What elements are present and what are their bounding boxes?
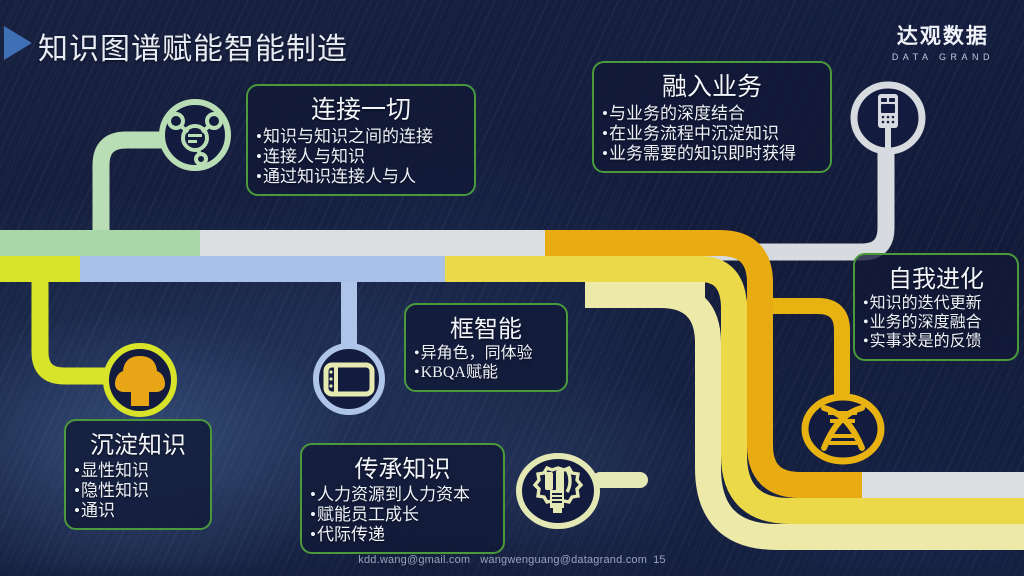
factory-gear-icon: [515, 450, 601, 532]
bullet-item: 人力资源到人力资本: [310, 485, 495, 505]
bullet-item: 业务的深度融合: [863, 314, 1009, 333]
knowledge-graph-icon: [156, 96, 234, 174]
bullet-item: 代际传递: [310, 525, 495, 545]
node-business[interactable]: [850, 80, 926, 160]
callout-kuang[interactable]: 框智能 异角色，同体验 KBQA赋能: [404, 303, 568, 392]
callout-evolve[interactable]: 自我进化 知识的迭代更新 业务的深度融合 实事求是的反馈: [853, 253, 1019, 361]
bullet-item: 通过知识连接人与人: [256, 167, 466, 187]
bullet-item: 业务需要的知识即时获得: [602, 144, 822, 164]
bullet-item: 连接人与知识: [256, 147, 466, 167]
callout-bullets: 知识的迭代更新 业务的深度融合 实事求是的反馈: [863, 295, 1009, 352]
ribbon-paleyellow-stub: [585, 282, 705, 308]
bullet-item: 显性知识: [74, 461, 202, 481]
callout-bullets: 显性知识 隐性知识 通识: [74, 461, 202, 521]
ribbon-gray-tail-1: [862, 472, 1024, 498]
ribbon-lime-stub: [0, 256, 14, 282]
brand-logo: 达观数据 DATA GRAND: [892, 26, 994, 62]
callout-connect[interactable]: 连接一切 知识与知识之间的连接 连接人与知识 通过知识连接人与人: [246, 84, 476, 196]
bullet-item: 知识的迭代更新: [863, 295, 1009, 314]
slide-number: 15: [653, 554, 666, 566]
callout-deposit[interactable]: 沉淀知识 显性知识 隐性知识 通识: [64, 419, 212, 530]
node-connect[interactable]: [156, 96, 234, 174]
ribbon-lime-lower: [0, 256, 80, 282]
footer-email-secondary: wangwenguang@datagrand.com: [480, 554, 647, 566]
bullet-item: 通识: [74, 501, 202, 521]
callout-bullets: 人力资源到人力资本 赋能员工成长 代际传递: [310, 485, 495, 545]
callout-inherit[interactable]: 传承知识 人力资源到人力资本 赋能员工成长 代际传递: [300, 443, 505, 554]
footer-email-primary: kdd.wang@gmail.com: [358, 554, 470, 566]
bullet-item: KBQA赋能: [414, 364, 558, 383]
ribbon-paleyellow-tail: [880, 524, 1024, 550]
logo-name-cn: 达观数据: [892, 26, 994, 47]
tablet-screen-icon: [310, 340, 388, 418]
stem-evolve: [735, 306, 842, 392]
node-deposit[interactable]: [100, 340, 180, 420]
callout-title: 融入业务: [602, 67, 822, 103]
person-icon: [100, 340, 180, 420]
slide-canvas: 知识图谱赋能智能制造 达观数据 DATA GRAND: [0, 0, 1024, 576]
bullet-item: 隐性知识: [74, 481, 202, 501]
callout-title: 自我进化: [863, 259, 1009, 294]
callout-title: 连接一切: [256, 90, 466, 126]
page-title: 知识图谱赋能智能制造: [38, 24, 348, 68]
callout-business[interactable]: 融入业务 与业务的深度结合 在业务流程中沉淀知识 业务需要的知识即时获得: [592, 61, 832, 173]
bullet-item: 知识与知识之间的连接: [256, 127, 466, 147]
ribbon-green-upper: [0, 230, 200, 256]
ribbon-gray-upper: [200, 230, 545, 256]
ribbon-orange-upper: [545, 230, 705, 256]
ribbon-yellow-lower: [445, 256, 705, 282]
handheld-terminal-icon: [850, 80, 926, 160]
title-arrow-icon: [4, 26, 32, 60]
logo-name-en: DATA GRAND: [892, 52, 994, 62]
callout-title: 传承知识: [310, 449, 495, 484]
callout-title: 沉淀知识: [74, 425, 202, 460]
node-evolve[interactable]: [800, 390, 886, 468]
bullet-item: 赋能员工成长: [310, 505, 495, 525]
callout-bullets: 知识与知识之间的连接 连接人与知识 通过知识连接人与人: [256, 127, 466, 187]
bullet-item: 在业务流程中沉淀知识: [602, 124, 822, 144]
node-inherit[interactable]: [515, 450, 601, 532]
ribbon-yellow-tail: [952, 498, 1024, 524]
bullet-item: 实事求是的反馈: [863, 333, 1009, 352]
bullet-item: 与业务的深度结合: [602, 104, 822, 124]
footer: kdd.wang@gmail.comwangwenguang@datagrand…: [0, 554, 1024, 566]
callout-bullets: 与业务的深度结合 在业务流程中沉淀知识 业务需要的知识即时获得: [602, 104, 822, 164]
ribbon-blue-lower: [80, 256, 445, 282]
callout-title: 框智能: [414, 309, 558, 344]
dna-helix-icon: [800, 390, 886, 468]
bullet-item: 异角色，同体验: [414, 345, 558, 364]
node-kuang[interactable]: [310, 340, 388, 418]
callout-bullets: 异角色，同体验 KBQA赋能: [414, 345, 558, 383]
